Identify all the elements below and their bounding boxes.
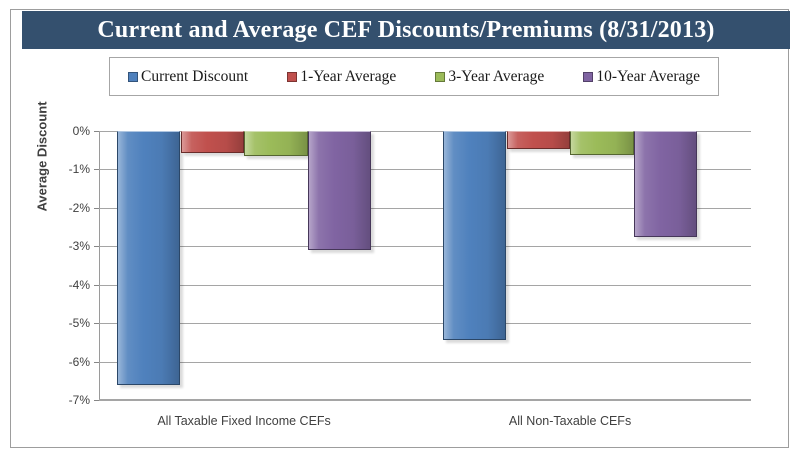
legend-swatch-1-year-average bbox=[287, 72, 297, 82]
chart-title-banner: Current and Average CEF Discounts/Premiu… bbox=[22, 11, 790, 49]
legend-item-3-year-average[interactable]: 3-Year Average bbox=[435, 68, 544, 86]
plot-bottom-border bbox=[99, 399, 751, 400]
bar[interactable] bbox=[308, 131, 372, 250]
y-axis-title-label: Average Discount bbox=[35, 194, 50, 212]
y-axis-tick bbox=[94, 362, 99, 363]
legend-swatch-current-discount bbox=[128, 72, 138, 82]
legend-item-10-year-average[interactable]: 10-Year Average bbox=[583, 68, 700, 86]
x-axis-category-label: All Non-Taxable CEFs bbox=[509, 414, 631, 428]
legend-swatch-10-year-average bbox=[583, 72, 593, 82]
y-axis-title: Average Discount bbox=[33, 195, 51, 210]
y-axis-tick bbox=[94, 323, 99, 324]
legend-item-current-discount[interactable]: Current Discount bbox=[128, 68, 248, 86]
bar[interactable] bbox=[443, 131, 507, 340]
y-axis-line bbox=[99, 131, 100, 400]
y-axis-tick-label: -1% bbox=[69, 162, 90, 176]
bar[interactable] bbox=[634, 131, 698, 237]
y-axis-tick bbox=[94, 169, 99, 170]
y-axis-tick-label: 0% bbox=[73, 124, 90, 138]
y-axis-tick-label: -4% bbox=[69, 278, 90, 292]
y-axis-tick-label: -5% bbox=[69, 316, 90, 330]
bar[interactable] bbox=[570, 131, 634, 155]
bar[interactable] bbox=[244, 131, 308, 156]
page-title: Current and Average CEF Discounts/Premiu… bbox=[97, 17, 714, 44]
y-axis-tick-label: -2% bbox=[69, 201, 90, 215]
y-axis-tick-label: -6% bbox=[69, 355, 90, 369]
plot-area: 0%-1%-2%-3%-4%-5%-6%-7% All Taxable Fixe… bbox=[99, 131, 751, 400]
legend-label: 1-Year Average bbox=[300, 68, 396, 86]
legend-label: Current Discount bbox=[141, 68, 248, 86]
bar[interactable] bbox=[117, 131, 181, 385]
legend-label: 3-Year Average bbox=[448, 68, 544, 86]
legend-item-1-year-average[interactable]: 1-Year Average bbox=[287, 68, 396, 86]
chart-legend: Current Discount 1-Year Average 3-Year A… bbox=[109, 57, 719, 96]
y-axis-tick-label: -3% bbox=[69, 239, 90, 253]
gridline bbox=[99, 323, 751, 324]
gridline bbox=[99, 400, 751, 401]
y-axis-tick-label: -7% bbox=[69, 393, 90, 407]
gridline bbox=[99, 285, 751, 286]
gridline bbox=[99, 362, 751, 363]
bar[interactable] bbox=[181, 131, 245, 153]
y-axis-tick bbox=[94, 208, 99, 209]
y-axis-tick bbox=[94, 246, 99, 247]
legend-label: 10-Year Average bbox=[596, 68, 700, 86]
gridline bbox=[99, 246, 751, 247]
chart-frame: Current and Average CEF Discounts/Premiu… bbox=[10, 9, 789, 448]
y-axis-tick bbox=[94, 131, 99, 132]
legend-swatch-3-year-average bbox=[435, 72, 445, 82]
y-axis-tick bbox=[94, 285, 99, 286]
y-axis-tick bbox=[94, 400, 99, 401]
bar[interactable] bbox=[507, 131, 571, 149]
x-axis-category-label: All Taxable Fixed Income CEFs bbox=[157, 414, 330, 428]
